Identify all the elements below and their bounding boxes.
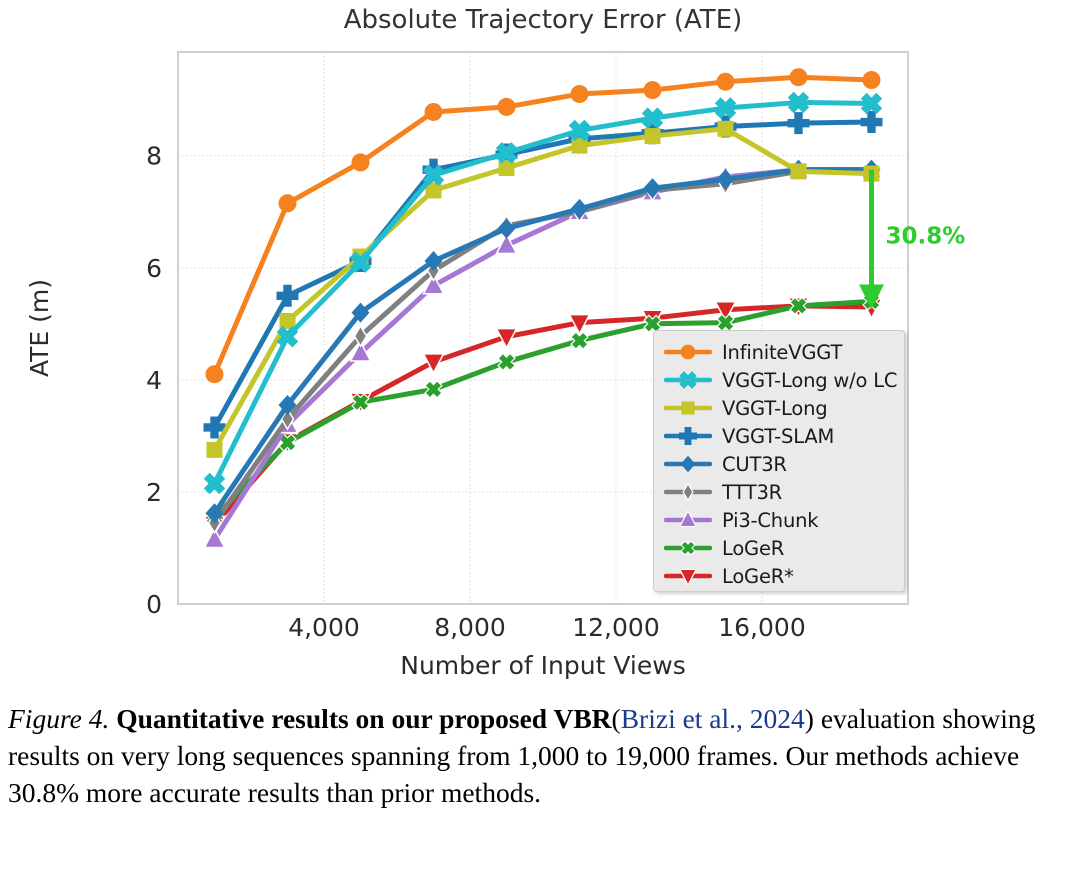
x-tick-label: 16,000 <box>718 613 805 642</box>
legend-marker-icon <box>664 396 712 420</box>
chart-legend: InfiniteVGGTVGGT-Long w/o LCVGGT-LongVGG… <box>653 330 905 592</box>
series-marker <box>790 68 808 86</box>
series-marker <box>718 121 734 137</box>
chart-title: Absolute Trajectory Error (ATE) <box>344 5 743 35</box>
x-axis-label: Number of Input Views <box>400 651 685 680</box>
series-marker <box>352 153 370 171</box>
legend-item-label: LoGeR <box>722 537 784 560</box>
series-marker <box>644 81 662 99</box>
legend-item-label: VGGT-Long <box>722 397 827 420</box>
legend-item-pi3-chunk[interactable]: Pi3-Chunk <box>654 506 904 534</box>
legend-marker-icon <box>664 508 712 532</box>
legend-item-vggt-long-w-o-lc[interactable]: VGGT-Long w/o LC <box>654 366 904 394</box>
legend-item-ttt3r[interactable]: TTT3R <box>654 478 904 506</box>
legend-item-label: LoGeR* <box>722 565 794 588</box>
legend-item-vggt-slam[interactable]: VGGT-SLAM <box>654 422 904 450</box>
x-tick-label: 12,000 <box>572 613 659 642</box>
y-tick-label: 6 <box>146 254 162 283</box>
legend-item-loger[interactable]: LoGeR <box>654 534 904 562</box>
y-tick-label: 0 <box>146 590 162 619</box>
legend-marker-icon <box>664 480 712 504</box>
legend-item-label: InfiniteVGGT <box>722 341 842 364</box>
legend-item-label: VGGT-Long w/o LC <box>722 369 897 392</box>
y-tick-label: 8 <box>146 142 162 171</box>
legend-item-label: Pi3-Chunk <box>722 509 818 532</box>
legend-item-vggt-long[interactable]: VGGT-Long <box>654 394 904 422</box>
figure-container: Absolute Trajectory Error (ATE)024684,00… <box>0 0 1080 891</box>
legend-item-cut3r[interactable]: CUT3R <box>654 450 904 478</box>
legend-item-infinitevggt[interactable]: InfiniteVGGT <box>654 338 904 366</box>
caption-open-paren: ( <box>612 703 621 734</box>
legend-marker-icon <box>664 564 712 588</box>
x-tick-label: 8,000 <box>434 613 506 642</box>
ate-line-chart: Absolute Trajectory Error (ATE)024684,00… <box>0 0 1080 700</box>
legend-item-label: VGGT-SLAM <box>722 425 834 448</box>
y-tick-label: 4 <box>146 366 162 395</box>
series-marker <box>498 98 516 116</box>
legend-marker-icon <box>664 340 712 364</box>
legend-marker-icon <box>664 368 712 392</box>
legend-item-loger[interactable]: LoGeR* <box>654 562 904 590</box>
series-marker <box>425 103 443 121</box>
caption-figure-number: Figure 4. <box>8 703 109 734</box>
series-marker <box>863 71 881 89</box>
series-marker <box>717 73 735 91</box>
improvement-percentage-label: 30.8% <box>886 224 966 250</box>
caption-bold-lead: Quantitative results on our proposed VBR <box>116 703 611 734</box>
x-tick-label: 4,000 <box>288 613 360 642</box>
series-marker <box>645 128 661 144</box>
series-marker <box>280 313 296 329</box>
y-axis-label-group: ATE (m)↓ <box>0 279 54 377</box>
series-marker <box>206 365 224 383</box>
legend-item-label: CUT3R <box>722 453 787 476</box>
series-marker <box>207 442 223 458</box>
series-marker <box>791 163 807 179</box>
legend-item-label: TTT3R <box>722 481 782 504</box>
legend-marker-icon <box>664 536 712 560</box>
figure-caption: Figure 4. Quantitative results on our pr… <box>8 700 1072 811</box>
series-marker <box>279 194 297 212</box>
legend-marker-icon <box>664 424 712 448</box>
y-tick-label: 2 <box>146 478 162 507</box>
legend-marker-icon <box>664 452 712 476</box>
series-marker <box>571 85 589 103</box>
caption-citation-link[interactable]: Brizi et al., 2024 <box>621 703 805 734</box>
y-axis-label: ATE (m) <box>25 279 54 377</box>
